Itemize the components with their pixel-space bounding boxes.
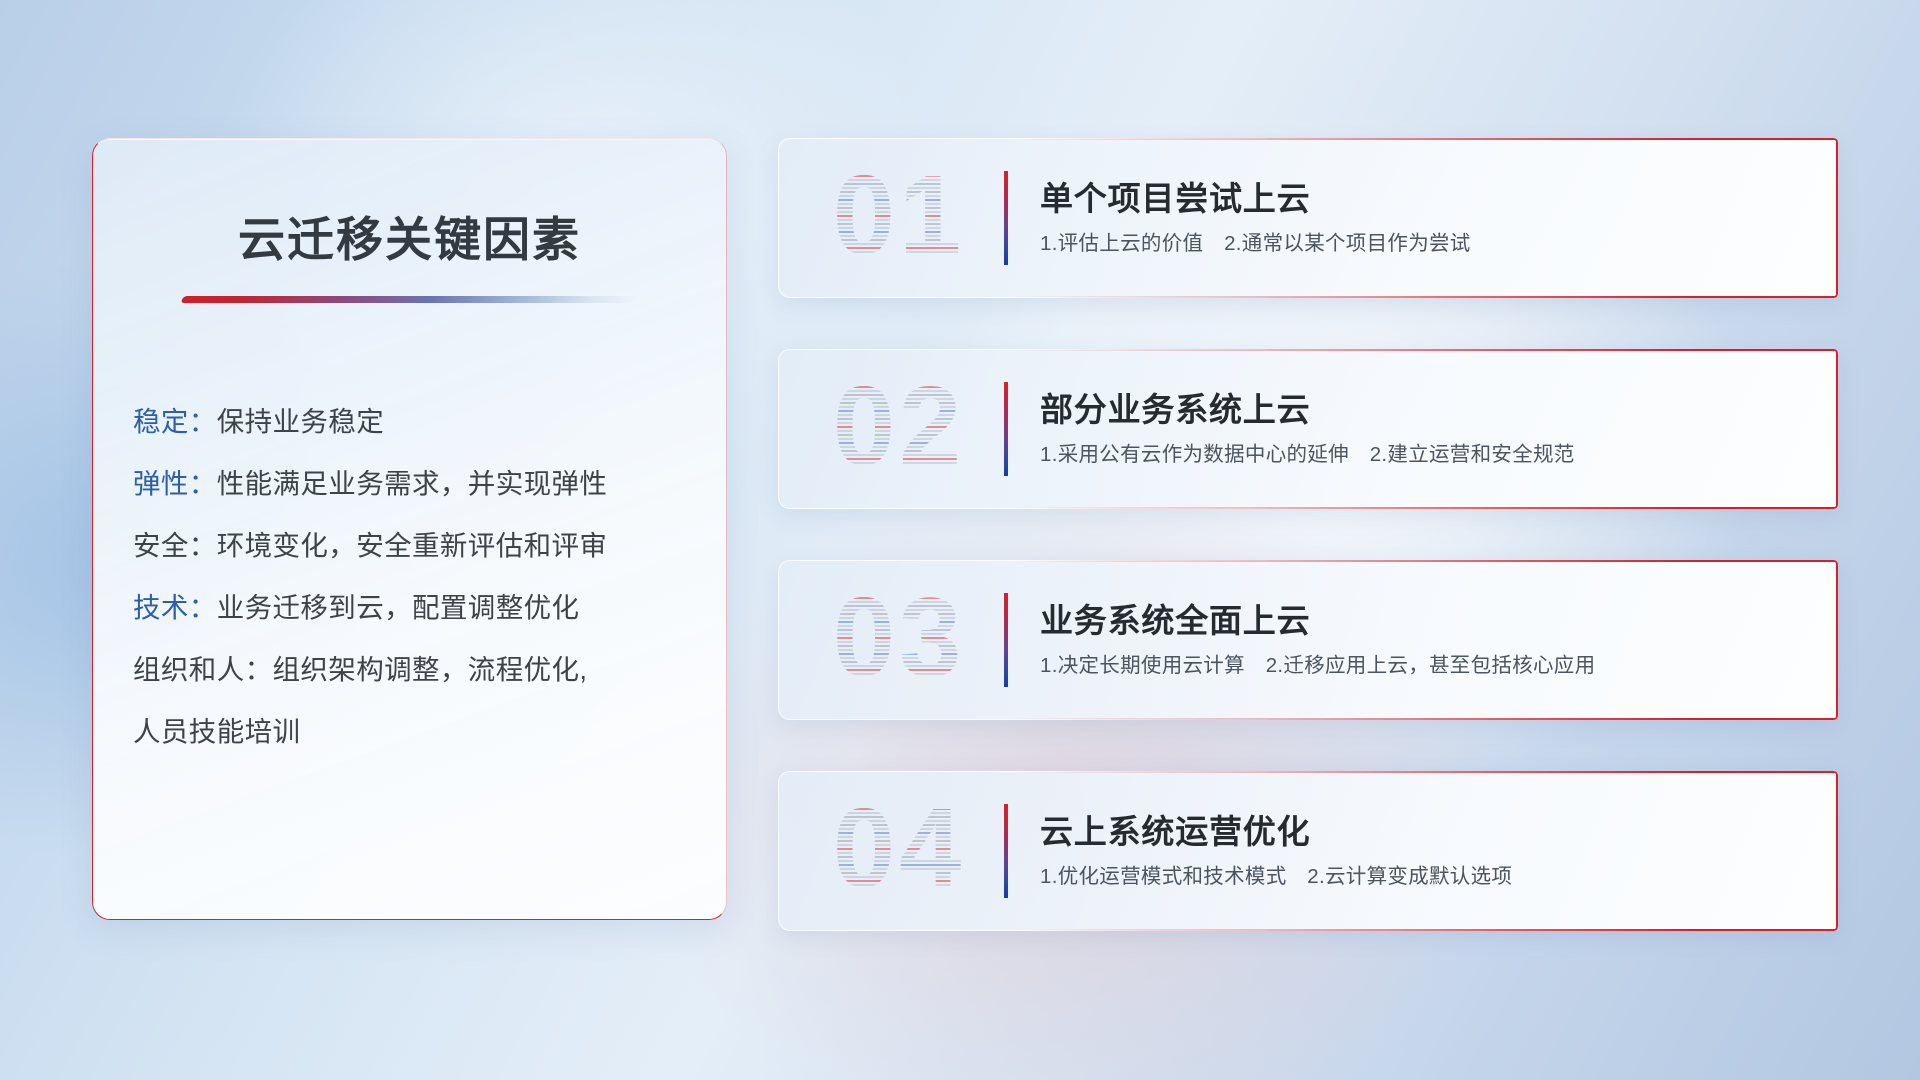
stage-card-subtitle: 1.决定长期使用云计算 2.迁移应用上云，甚至包括核心应用	[1040, 653, 1595, 680]
page-title: 云迁移关键因素	[93, 201, 726, 270]
factor-value: 人员技能培训	[133, 716, 300, 747]
factor-line: 组织和人：组织架构调整，流程优化,	[133, 639, 688, 701]
factor-list: 稳定：保持业务稳定弹性：性能满足业务需求，并实现弹性安全：环境变化，安全重新评估…	[93, 391, 726, 763]
factor-value: 业务迁移到云，配置调整优化	[217, 592, 580, 623]
stage-card-body: 业务系统全面上云1.决定长期使用云计算 2.迁移应用上云，甚至包括核心应用	[1040, 600, 1595, 680]
striped-number-glyph: 02	[814, 370, 984, 488]
stage-card[interactable]: 02部分业务系统上云1.采用公有云作为数据中心的延伸 2.建立运营和安全规范	[778, 349, 1838, 509]
stage-card-title: 业务系统全面上云	[1040, 600, 1595, 641]
stage-number: 02	[814, 370, 984, 488]
factor-key: 弹性：	[133, 468, 217, 499]
stage-card-title: 单个项目尝试上云	[1040, 178, 1471, 219]
stage-accent-bar	[1004, 171, 1008, 265]
factor-value: 保持业务稳定	[217, 406, 384, 437]
stage-card-title: 云上系统运营优化	[1040, 811, 1512, 852]
stage-card-subtitle: 1.采用公有云作为数据中心的延伸 2.建立运营和安全规范	[1040, 442, 1575, 469]
factor-value: 环境变化，安全重新评估和评审	[217, 530, 608, 561]
key-factors-panel: 云迁移关键因素 稳定：保持业务稳定弹性：性能满足业务需求，并实现弹性安全：环境变…	[92, 138, 727, 920]
factor-value: 组织架构调整，流程优化,	[273, 654, 588, 685]
stage-card-list: 01单个项目尝试上云1.评估上云的价值 2.通常以某个项目作为尝试02部分业务系…	[778, 138, 1838, 931]
stage-accent-bar	[1004, 382, 1008, 476]
stage-card-subtitle: 1.优化运营模式和技术模式 2.云计算变成默认选项	[1040, 864, 1512, 891]
factor-line: 安全：环境变化，安全重新评估和评审	[133, 515, 688, 577]
slide-canvas: 云迁移关键因素 稳定：保持业务稳定弹性：性能满足业务需求，并实现弹性安全：环境变…	[0, 0, 1920, 1080]
factor-line: 稳定：保持业务稳定	[133, 391, 688, 453]
factor-key: 组织和人：	[133, 654, 273, 685]
stage-number: 01	[814, 159, 984, 277]
stage-card-body: 单个项目尝试上云1.评估上云的价值 2.通常以某个项目作为尝试	[1040, 178, 1471, 258]
stage-card[interactable]: 04云上系统运营优化1.优化运营模式和技术模式 2.云计算变成默认选项	[778, 771, 1838, 931]
stage-card-subtitle: 1.评估上云的价值 2.通常以某个项目作为尝试	[1040, 231, 1471, 258]
stage-card-body: 部分业务系统上云1.采用公有云作为数据中心的延伸 2.建立运营和安全规范	[1040, 389, 1575, 469]
striped-number-glyph: 03	[814, 581, 984, 699]
striped-number-glyph: 04	[814, 792, 984, 910]
factor-key: 技术：	[133, 592, 217, 623]
stage-card[interactable]: 01单个项目尝试上云1.评估上云的价值 2.通常以某个项目作为尝试	[778, 138, 1838, 298]
title-underline-rule	[180, 296, 638, 303]
stage-card[interactable]: 03业务系统全面上云1.决定长期使用云计算 2.迁移应用上云，甚至包括核心应用	[778, 560, 1838, 720]
factor-line: 弹性：性能满足业务需求，并实现弹性	[133, 453, 688, 515]
factor-key: 稳定：	[133, 406, 217, 437]
factor-key: 安全：	[133, 530, 217, 561]
factor-line: 人员技能培训	[133, 701, 688, 763]
stage-number: 03	[814, 581, 984, 699]
stage-accent-bar	[1004, 593, 1008, 687]
factor-value: 性能满足业务需求，并实现弹性	[217, 468, 608, 499]
striped-number-glyph: 01	[814, 159, 984, 277]
stage-card-body: 云上系统运营优化1.优化运营模式和技术模式 2.云计算变成默认选项	[1040, 811, 1512, 891]
factor-line: 技术：业务迁移到云，配置调整优化	[133, 577, 688, 639]
stage-number: 04	[814, 792, 984, 910]
stage-card-title: 部分业务系统上云	[1040, 389, 1575, 430]
stage-accent-bar	[1004, 804, 1008, 898]
